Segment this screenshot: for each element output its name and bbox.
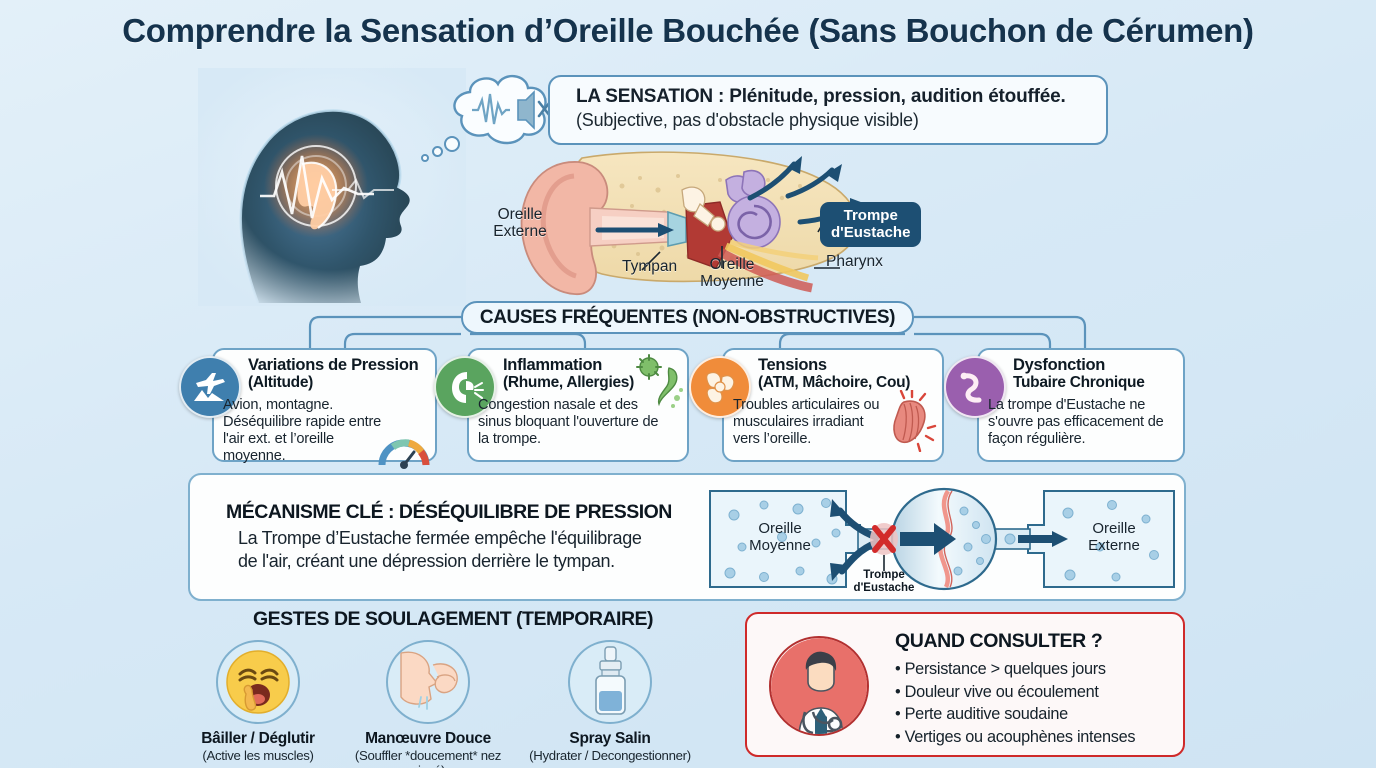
relief-sub: (Hydrater / Decongestionner)	[520, 748, 700, 763]
mechanism-line1: La Trompe d’Eustache fermée empêche l'éq…	[238, 528, 642, 549]
pressure-gauge-icon	[377, 433, 431, 473]
consult-list: Persistance > quelques jours Douleur viv…	[895, 658, 1135, 749]
cause-card-dysfunction[interactable]: Dysfonction Tubaire Chronique La trompe …	[977, 348, 1185, 462]
list-item: Persistance > quelques jours	[895, 658, 1135, 681]
head-profile-illustration	[198, 68, 466, 306]
cause-body: La trompe d'Eustache ne s'ouvre pas effi…	[988, 397, 1168, 449]
label-eustachian-tube: Tromped'Eustache	[820, 202, 921, 247]
relief-item-yawn[interactable]: Bâiller / Déglutir (Active les muscles)	[168, 640, 348, 763]
cause-body: Congestion nasale et des sinus bloquant …	[478, 397, 668, 449]
cause-subtitle: (ATM, Mâchoire, Cou)	[758, 375, 936, 392]
relief-sub: (Souffler *doucement* nez pincé)	[338, 748, 518, 768]
bubble-dot-medium	[432, 146, 443, 157]
cause-card-inflammation[interactable]: Inflammation (Rhume, Allergies) Congesti…	[467, 348, 689, 462]
sensation-textbox: LA SENSATION : Plénitude, pression, audi…	[548, 75, 1108, 145]
relief-name: Spray Salin	[520, 730, 700, 748]
sensation-line1: LA SENSATION : Plénitude, pression, audi…	[576, 86, 1092, 108]
bubble-dot-large	[444, 136, 460, 152]
mechanism-title: MÉCANISME CLÉ : DÉSÉQUILIBRE DE PRESSION	[226, 501, 672, 524]
label-eardrum: Tympan	[622, 258, 677, 275]
ear-anatomy-diagram: OreilleExterne Tympan OreilleMoyenne Pha…	[482, 146, 922, 296]
red-x-blocked-icon	[870, 523, 898, 555]
relief-sub: (Active les muscles)	[168, 748, 348, 763]
label-outer-ear-chamber: OreilleExterne	[1068, 521, 1160, 555]
relief-section-header: GESTES DE SOULAGEMENT (TEMPORAIRE)	[188, 608, 718, 631]
label-middle-ear-chamber: OreilleMoyenne	[730, 521, 830, 555]
muscle-icon	[884, 390, 940, 452]
relief-item-spray[interactable]: Spray Salin (Hydrater / Decongestionner)	[520, 640, 700, 763]
relief-item-maneuver[interactable]: Manœuvre Douce (Souffler *doucement* nez…	[338, 640, 518, 768]
yawning-face-icon	[216, 640, 300, 724]
cause-card-pressure[interactable]: Variations de Pression (Altitude) Avion,…	[212, 348, 437, 462]
label-pharynx: Pharynx	[826, 253, 883, 270]
relief-name: Manœuvre Douce	[338, 730, 518, 748]
causes-section-header: CAUSES FRÉQUENTES (NON-OBSTRUCTIVES)	[461, 301, 914, 334]
mechanism-line2: de l'air, créant une dépression derrière…	[238, 551, 615, 572]
mechanism-panel: MÉCANISME CLÉ : DÉSÉQUILIBRE DE PRESSION…	[188, 473, 1186, 601]
when-to-consult-panel: QUAND CONSULTER ? Persistance > quelques…	[745, 612, 1185, 757]
cause-subtitle: Tubaire Chronique	[1013, 375, 1177, 392]
cause-title: Variations de Pression	[248, 357, 429, 375]
label-eustachian-tube-blocked: Tromped'Eustache	[844, 569, 924, 594]
label-middle-ear: OreilleMoyenne	[695, 256, 769, 291]
pinched-nose-blow-icon	[386, 640, 470, 724]
list-item: Vertiges ou acouphènes intenses	[895, 726, 1135, 749]
page-title: Comprendre la Sensation d’Oreille Bouché…	[0, 12, 1376, 50]
cause-title: Tensions	[758, 357, 936, 375]
pressure-diagram: OreilleMoyenne OreilleExterne Tromped'Eu…	[708, 485, 1176, 593]
cause-subtitle: (Altitude)	[248, 375, 429, 392]
cause-title: Dysfonction	[1013, 357, 1177, 375]
cause-body: Troubles articulaires ou musculaires irr…	[733, 397, 891, 449]
doctor-avatar-icon	[769, 636, 869, 736]
cause-body: Avion, montagne. Déséquilibre rapide ent…	[223, 397, 383, 466]
relief-name: Bâiller / Déglutir	[168, 730, 348, 748]
cause-card-tension[interactable]: Tensions (ATM, Mâchoire, Cou) Troubles a…	[722, 348, 944, 462]
list-item: Douleur vive ou écoulement	[895, 681, 1135, 704]
bubble-dot-small	[421, 154, 429, 162]
list-item: Perte auditive soudaine	[895, 703, 1135, 726]
label-outer-ear: OreilleExterne	[482, 206, 558, 241]
nasal-spray-icon	[568, 640, 652, 724]
consult-title: QUAND CONSULTER ?	[895, 630, 1102, 653]
sensation-line2: (Subjective, pas d'obstacle physique vis…	[576, 110, 1092, 131]
